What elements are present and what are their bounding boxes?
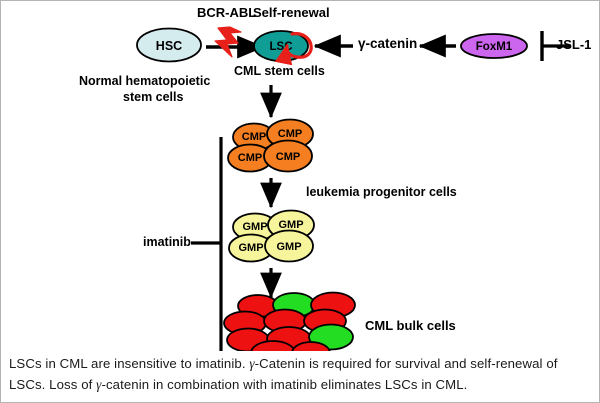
caption-part-3: -catenin in combination with imatinib el… — [101, 377, 467, 392]
node-hsc[interactable]: HSC — [137, 29, 201, 62]
gmp-cell-label: GMP — [276, 241, 301, 253]
gmp-cell-label: GMP — [238, 242, 263, 254]
label-jsl1: JSL-1 — [556, 37, 591, 52]
gmp-cell-label: GMP — [278, 219, 303, 231]
cmp-cell-label: CMP — [238, 152, 262, 164]
label-imatinib: imatinib — [143, 235, 191, 250]
caption-part-1: LSCs in CML are insensitive to imatinib. — [9, 356, 249, 371]
cmp-cell-label: CMP — [278, 128, 302, 140]
label-bcr-abl: BCR-ABL — [197, 5, 256, 20]
label-cml-bulk-cells: CML bulk cells — [365, 318, 456, 333]
bcr-abl-lightning-icon — [215, 27, 241, 57]
hsc-label: HSC — [156, 39, 182, 53]
label-normal-hsc-line2: stem cells — [123, 90, 183, 105]
node-foxm1[interactable]: FoxM1 — [461, 34, 527, 58]
cmp-cell-label: CMP — [242, 131, 266, 143]
label-normal-hsc-line1: Normal hematopoietic — [79, 74, 210, 89]
pathway-diagram: HSC LSC FoxM1 — [1, 1, 600, 351]
label-leukemia-progenitor-cells: leukemia progenitor cells — [306, 185, 457, 200]
figure-container: HSC LSC FoxM1 — [0, 0, 600, 403]
foxm1-label: FoxM1 — [476, 41, 513, 53]
cmp-cell-label: CMP — [276, 151, 300, 163]
label-self-renewal: Self-renewal — [253, 5, 330, 20]
label-gamma-catenin: γ-catenin — [358, 36, 417, 52]
cluster-gmp[interactable]: GMP GMP GMP GMP — [229, 211, 314, 262]
label-cml-stem-cells: CML stem cells — [234, 64, 325, 79]
cluster-cml-bulk-cells[interactable] — [224, 293, 355, 352]
figure-caption: LSCs in CML are insensitive to imatinib.… — [9, 353, 595, 395]
cluster-cmp[interactable]: CMP CMP CMP CMP — [228, 120, 313, 172]
gmp-cell-label: GMP — [242, 221, 267, 233]
